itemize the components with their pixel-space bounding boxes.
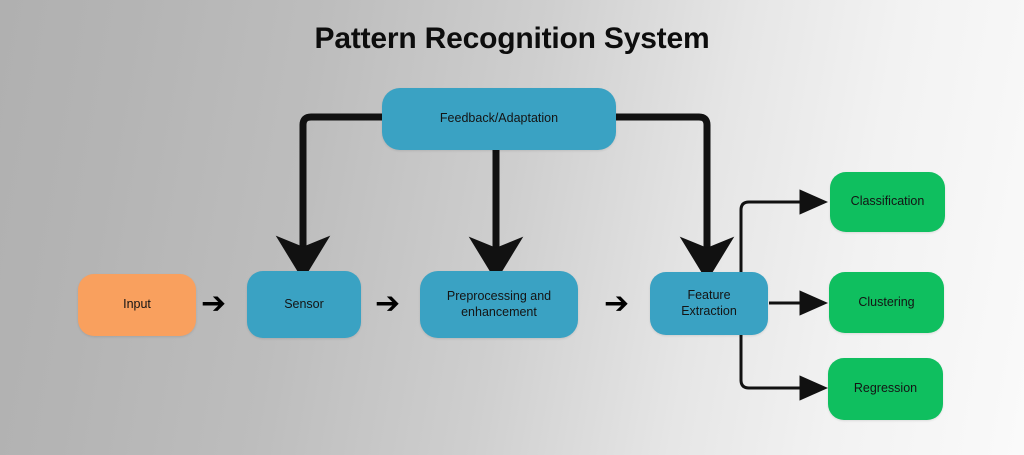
node-preprocessing[interactable]: Preprocessing and enhancement (420, 271, 578, 338)
node-input-label: Input (123, 297, 151, 313)
node-regression[interactable]: Regression (828, 358, 943, 420)
node-classification-label: Classification (851, 194, 925, 210)
edge-feedback-to-sensor (303, 117, 382, 258)
arrow-input-to-sensor-icon: ➔ (201, 289, 226, 319)
node-feedback-adaptation[interactable]: Feedback/Adaptation (382, 88, 616, 150)
node-feedback-adaptation-label: Feedback/Adaptation (440, 111, 558, 127)
arrow-preprocessing-to-feature-icon: ➔ (604, 289, 629, 319)
node-input[interactable]: Input (78, 274, 196, 336)
node-feature-extraction-label: Feature Extraction (658, 288, 760, 319)
node-regression-label: Regression (854, 381, 917, 397)
edge-feedback-to-feature (615, 117, 707, 259)
arrow-sensor-to-preprocessing-icon: ➔ (375, 289, 400, 319)
node-classification[interactable]: Classification (830, 172, 945, 232)
node-sensor[interactable]: Sensor (247, 271, 361, 338)
node-feature-extraction[interactable]: Feature Extraction (650, 272, 768, 335)
node-clustering-label: Clustering (858, 295, 914, 311)
node-preprocessing-label: Preprocessing and enhancement (428, 289, 570, 320)
node-sensor-label: Sensor (284, 297, 324, 313)
diagram-canvas: Pattern Recognition System Sensor (left … (0, 0, 1024, 455)
node-clustering[interactable]: Clustering (829, 272, 944, 333)
